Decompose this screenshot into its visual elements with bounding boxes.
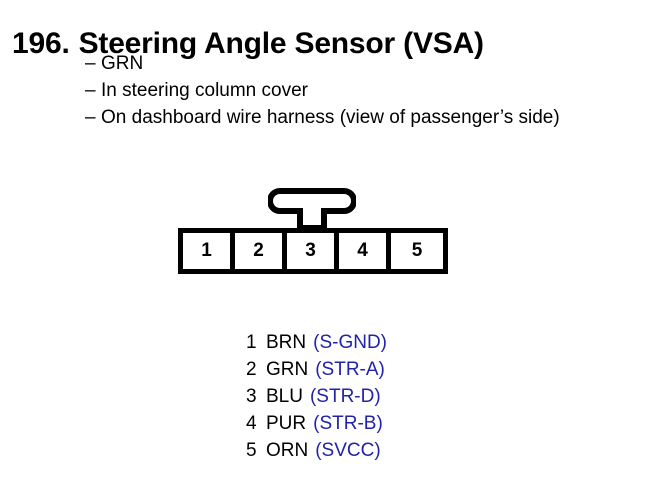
pin-legend-number: 1 [246, 329, 260, 356]
pin-legend-signal: (STR-A) [315, 359, 385, 380]
pin-cell: 4 [339, 233, 391, 269]
pin-legend: 1BRN(S-GND) 2GRN(STR-A) 3BLU(STR-D) 4PUR… [246, 329, 387, 464]
spec-list-item-label: In steering column cover [101, 80, 308, 101]
connector-diagram: 1 2 3 4 5 [178, 188, 448, 275]
spec-list-item: –On dashboard wire harness (view of pass… [85, 104, 560, 131]
dash-icon: – [85, 50, 101, 77]
pin-legend-number: 5 [246, 437, 260, 464]
connector-latch-icon [268, 188, 356, 230]
dash-icon: – [85, 77, 101, 104]
pin-legend-number: 3 [246, 383, 260, 410]
pin-cell: 3 [287, 233, 339, 269]
pin-cell: 2 [235, 233, 287, 269]
spec-list-item-label: GRN [101, 53, 143, 74]
pin-legend-signal: (STR-D) [310, 386, 381, 407]
pin-legend-number: 4 [246, 410, 260, 437]
pin-legend-row: 3BLU(STR-D) [246, 383, 387, 410]
pin-legend-row: 1BRN(S-GND) [246, 329, 387, 356]
dash-icon: – [85, 104, 101, 131]
pin-legend-wire-color: GRN [266, 359, 308, 380]
pin-legend-row: 5ORN(SVCC) [246, 437, 387, 464]
pin-legend-wire-color: ORN [266, 440, 308, 461]
spec-list-item-label: On dashboard wire harness (view of passe… [101, 107, 560, 128]
pin-legend-signal: (STR-B) [313, 413, 383, 434]
pin-legend-wire-color: PUR [266, 413, 306, 434]
spec-list-item: –GRN [85, 50, 560, 77]
pin-legend-number: 2 [246, 356, 260, 383]
section-number: 196. [12, 27, 70, 60]
spec-list: –GRN –In steering column cover –On dashb… [85, 50, 560, 131]
spec-list-item: –In steering column cover [85, 77, 560, 104]
connector-pin-row: 1 2 3 4 5 [178, 228, 448, 274]
pin-legend-wire-color: BRN [266, 332, 306, 353]
wiring-diagram-page: { "heading": { "number": "196.", "title"… [0, 0, 670, 479]
pin-legend-wire-color: BLU [266, 386, 303, 407]
pin-legend-signal: (SVCC) [315, 440, 380, 461]
pin-legend-row: 4PUR(STR-B) [246, 410, 387, 437]
pin-legend-signal: (S-GND) [313, 332, 387, 353]
pin-cell: 1 [183, 233, 235, 269]
pin-cell: 5 [391, 233, 443, 269]
pin-legend-row: 2GRN(STR-A) [246, 356, 387, 383]
